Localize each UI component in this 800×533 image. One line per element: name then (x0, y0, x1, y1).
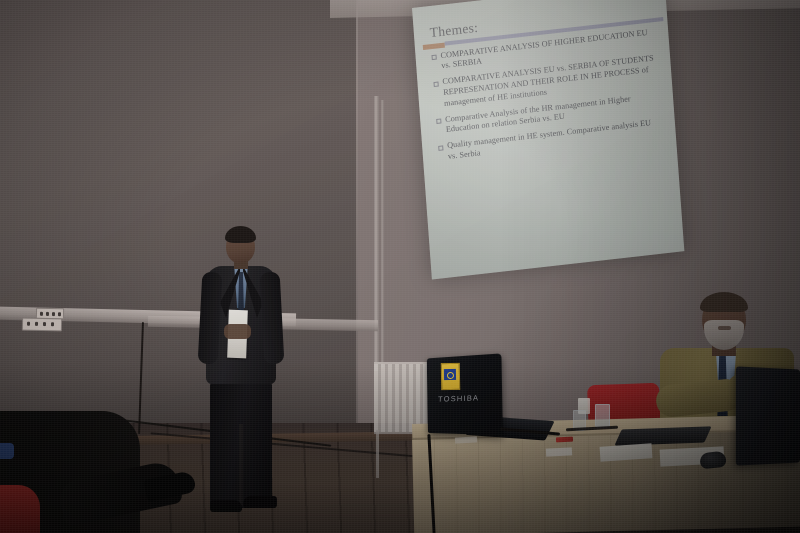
laptop-keyboard-third[interactable] (614, 426, 711, 445)
socket-hole (52, 312, 55, 316)
slide-bullet-list: COMPARATIVE ANALYSIS OF HIGHER EDUCATION… (429, 26, 666, 164)
desk-paper-d (455, 436, 477, 443)
socket-hole (27, 322, 30, 326)
slide-content: Themes: COMPARATIVE ANALYSIS OF HIGHER E… (427, 1, 673, 270)
presenter-arm-right (260, 272, 285, 365)
eu-flag-icon (444, 369, 456, 380)
presenter-hands (224, 324, 251, 339)
socket-hole (40, 312, 43, 316)
desk-paper-c (546, 447, 572, 456)
slide-divider-accent (423, 42, 445, 49)
laptop-second[interactable] (736, 366, 800, 465)
foreground-blue-item (0, 443, 14, 459)
presenter-shoe-right (243, 496, 277, 508)
wall-left (0, 0, 358, 470)
presenter-hair (225, 226, 256, 243)
seated-man-beard (704, 320, 744, 350)
laptop-brand-label: TOSHIBA (438, 393, 479, 403)
usb-flash-drive[interactable] (556, 437, 573, 443)
power-socket-icon-b[interactable] (22, 318, 62, 332)
socket-hole (35, 322, 38, 326)
radiator-pipe (376, 430, 379, 478)
presenter-figure (196, 228, 292, 528)
wall-corner (356, 0, 358, 470)
drinking-glass-a (595, 404, 610, 428)
eu-flag-sticker-icon (441, 363, 460, 390)
socket-hole (51, 322, 54, 326)
presentation-photo: Themes: COMPARATIVE ANALYSIS OF HIGHER E… (0, 0, 800, 533)
presenter-leg-gap (239, 424, 243, 506)
socket-hole (43, 322, 46, 326)
socket-hole (46, 312, 49, 316)
foreground-red-chair (0, 485, 40, 533)
projection-screen: Themes: COMPARATIVE ANALYSIS OF HIGHER E… (412, 0, 684, 279)
presenter-shoe-left (210, 500, 242, 512)
socket-hole (58, 312, 61, 316)
seated-man-mouth (718, 326, 731, 330)
seated-man-hair (700, 292, 748, 312)
wall-conduit-icon-2 (381, 100, 384, 368)
